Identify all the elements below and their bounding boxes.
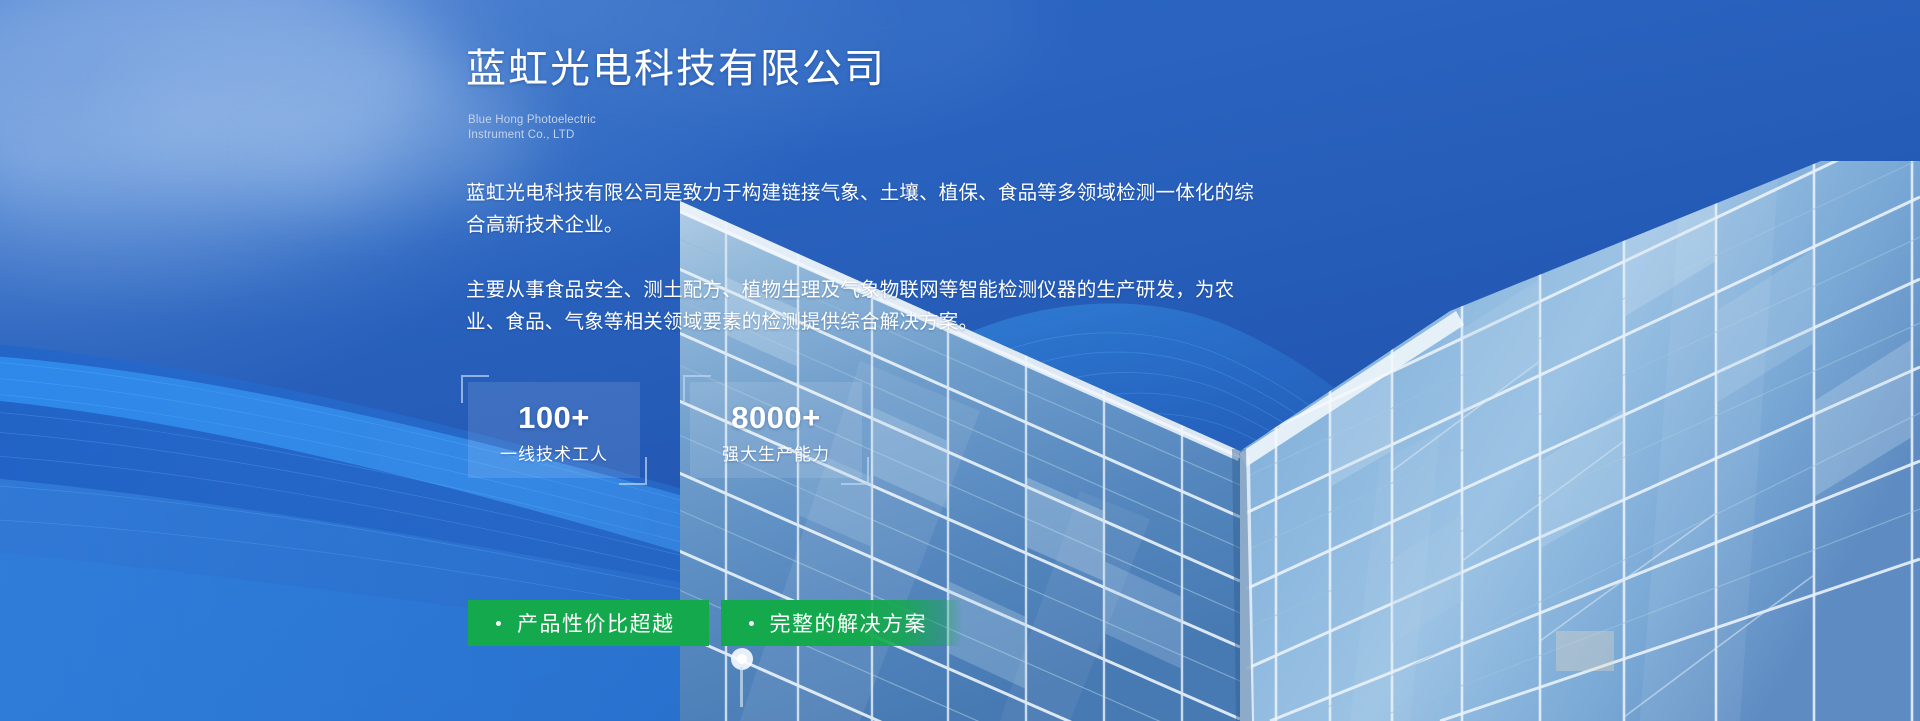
stat-value: 8000+ (731, 402, 821, 433)
stat-card-workers: 100+ 一线技术工人 (468, 382, 640, 478)
stats-group: 100+ 一线技术工人 8000+ 强大生产能力 (468, 382, 862, 478)
description-paragraph-2: 主要从事食品安全、测土配方、植物生理及气象物联网等智能检测仪器的生产研发，为农业… (466, 275, 1266, 338)
hero-banner: 蓝虹光电科技有限公司 Blue Hong Photoelectric Instr… (0, 0, 1920, 721)
stat-label: 一线技术工人 (500, 446, 608, 463)
bullet-dot-icon (496, 621, 501, 626)
feature-pill-value: 产品性价比超越 (468, 600, 709, 646)
page-title: 蓝虹光电科技有限公司 (466, 44, 886, 94)
feature-label: 完整的解决方案 (770, 608, 928, 638)
stat-label: 强大生产能力 (722, 446, 830, 463)
feature-banner-group: 产品性价比超越 完整的解决方案 (468, 600, 961, 646)
stat-value: 100+ (518, 402, 590, 433)
feature-pill-solution: 完整的解决方案 (721, 600, 962, 646)
company-subtitle-english: Blue Hong Photoelectric Instrument Co., … (468, 113, 596, 143)
bullet-dot-icon (749, 621, 754, 626)
hero-content: 蓝虹光电科技有限公司 Blue Hong Photoelectric Instr… (466, 0, 1566, 721)
description-paragraph-1: 蓝虹光电科技有限公司是致力于构建链接气象、土壤、植保、食品等多领域检测一体化的综… (466, 178, 1266, 241)
feature-label: 产品性价比超越 (517, 608, 675, 638)
stat-card-capacity: 8000+ 强大生产能力 (690, 382, 862, 478)
